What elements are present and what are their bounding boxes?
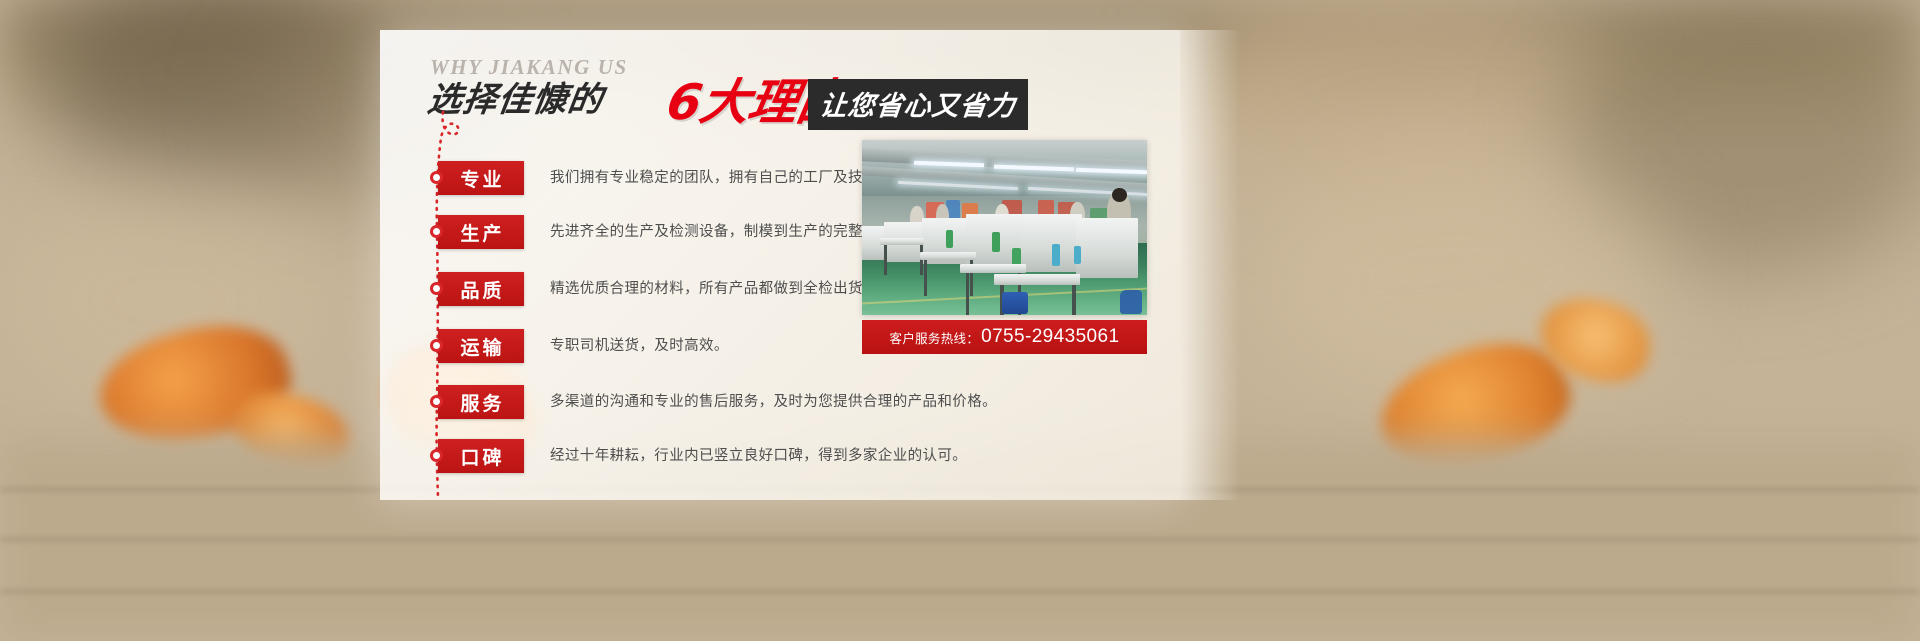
reason-tag: 品质	[438, 272, 524, 306]
photo-table-leg-4b	[1072, 285, 1076, 315]
title-tagline: 让您省心又省力	[818, 84, 1018, 123]
hotline-label: 客户服务热线：	[890, 328, 980, 347]
photo-partition-6	[1076, 218, 1138, 278]
bullet-node-icon	[430, 282, 443, 295]
reason-tag: 生产	[438, 215, 524, 249]
hotline-number: 0755-29435061	[981, 326, 1119, 348]
list-item[interactable]: 服务 多渠道的沟通和专业的售后服务，及时为您提供合理的产品和价格。	[430, 379, 1170, 433]
photo-table-leg-1b	[920, 245, 923, 275]
bullet-node-icon	[430, 339, 443, 352]
photo-table-4	[994, 274, 1080, 285]
reason-tag-label: 服务	[457, 389, 504, 416]
photo-cylinder-4	[1052, 244, 1060, 266]
list-item[interactable]: 口碑 经过十年耕耘，行业内已竖立良好口碑，得到多家企业的认可。	[430, 433, 1170, 487]
reason-tag: 服务	[438, 385, 524, 419]
factory-photo	[862, 140, 1147, 315]
hotline-banner: 客户服务热线： 0755-29435061	[862, 320, 1147, 354]
photo-table-1	[880, 238, 924, 245]
table-plank-line-2	[0, 538, 1920, 541]
reason-tag-label: 口碑	[457, 443, 504, 470]
photo-cylinder-5	[1074, 246, 1081, 264]
reason-description: 专职司机送货，及时高效。	[550, 333, 729, 359]
bullet-node-icon	[430, 449, 443, 462]
reason-tag-label: 专业	[457, 165, 504, 192]
photo-table-3	[960, 264, 1026, 273]
photo-table-leg-3a	[966, 273, 969, 315]
reason-tag-label: 品质	[457, 276, 504, 303]
photo-worker-5-head	[1112, 188, 1127, 202]
reason-description: 多渠道的沟通和专业的售后服务，及时为您提供合理的产品和价格。	[550, 389, 997, 415]
photo-stool	[1002, 292, 1028, 314]
bullet-node-icon	[430, 171, 443, 184]
photo-table-2	[920, 252, 976, 260]
table-plank-line-3	[0, 590, 1920, 593]
reason-description: 精选优质合理的材料，所有产品都做到全检出货。	[550, 276, 878, 302]
bullet-node-icon	[430, 225, 443, 238]
reason-tag: 专业	[438, 161, 524, 195]
reason-description: 先进齐全的生产及检测设备，制模到生产的完整工艺。	[550, 219, 908, 245]
reason-description: 经过十年耕耘，行业内已竖立良好口碑，得到多家企业的认可。	[550, 443, 967, 469]
photo-cylinder-1	[946, 230, 953, 248]
photo-table-leg-1a	[884, 245, 887, 275]
title-tagline-box: 让您省心又省力	[808, 79, 1028, 130]
photo-partition-5	[1020, 214, 1082, 272]
photo-bag	[1120, 290, 1142, 314]
content-card-fade	[1180, 30, 1240, 500]
reason-tag: 口碑	[438, 439, 524, 473]
reason-tag-label: 运输	[457, 333, 504, 360]
bullet-node-icon	[430, 395, 443, 408]
photo-cylinder-2	[992, 232, 1000, 252]
reason-tag-label: 生产	[457, 219, 504, 246]
photo-table-leg-2a	[924, 260, 927, 296]
reason-description: 我们拥有专业稳定的团队，拥有自己的工厂及技术。	[550, 165, 893, 191]
reason-tag: 运输	[438, 329, 524, 363]
